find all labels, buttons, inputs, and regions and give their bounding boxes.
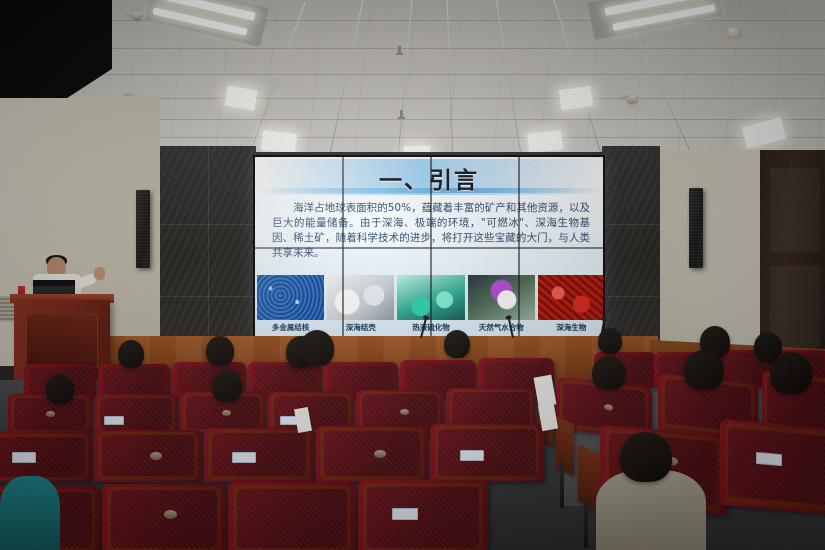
audience-shoulders	[596, 470, 706, 550]
slide-title: 一、引言	[255, 161, 603, 195]
panel-seam	[602, 296, 660, 297]
audience-head	[206, 336, 234, 366]
recessed-ceiling-light	[404, 146, 430, 152]
seat[interactable]	[430, 424, 544, 482]
dome-camera-icon	[726, 27, 742, 39]
sprinkler-icon	[398, 46, 401, 54]
thumbnail-caption: 天然气水合物	[468, 321, 535, 334]
ceiling-seam	[0, 74, 825, 75]
audience-head	[118, 340, 144, 368]
seat-number-label	[460, 450, 484, 461]
seat-emblem	[164, 510, 177, 519]
seat-support-post	[560, 462, 564, 508]
seat[interactable]	[102, 484, 226, 550]
thumbnail-image	[327, 275, 394, 320]
seat-armrest	[556, 416, 574, 476]
speaker-grille	[689, 188, 703, 268]
audience-head	[770, 352, 812, 394]
seat-cushion	[212, 433, 307, 476]
seat-cushion	[102, 435, 195, 477]
thumbnail-caption: 深海生物	[538, 321, 603, 334]
seat-number-label	[104, 416, 124, 425]
thumbnail-image	[538, 275, 603, 320]
seat[interactable]	[316, 426, 428, 482]
seat-cushion	[324, 431, 420, 476]
wall-speaker-left	[136, 190, 150, 268]
seat-number-label	[12, 452, 36, 463]
seat-number-label	[392, 508, 418, 520]
lecture-hall-photo: 一、引言 海洋占地球表面积的50%，蕴藏着丰富的矿产和其他资源，以及巨大的能量储…	[0, 0, 825, 550]
spotlight-icon	[132, 12, 142, 19]
seat-emblem	[150, 452, 162, 460]
ceiling-seam	[0, 20, 825, 21]
podium-front-panel	[26, 314, 98, 368]
seat-cushion	[728, 427, 825, 505]
seat[interactable]	[94, 430, 202, 482]
spotlight-icon	[627, 96, 637, 103]
seat-cushion	[111, 490, 218, 548]
seat-emblem	[374, 450, 386, 458]
sprinkler-icon	[400, 110, 403, 118]
audience-head	[592, 356, 626, 390]
videowall-bezel-seam	[255, 247, 603, 249]
thumbnail-caption: 深海结壳	[327, 321, 394, 334]
seat-cushion	[103, 367, 165, 394]
audience-head	[684, 350, 724, 390]
seat-support-post	[584, 498, 588, 548]
recessed-ceiling-light	[261, 130, 297, 152]
presenter-hand	[94, 267, 105, 280]
audience-shoulders	[0, 476, 60, 550]
audience-head	[598, 328, 622, 354]
thumbnail-image	[468, 275, 535, 320]
seat-cushion	[237, 489, 347, 548]
audience-head	[46, 374, 74, 404]
seat[interactable]	[98, 364, 170, 398]
seat[interactable]	[0, 432, 92, 482]
led-video-wall[interactable]: 一、引言 海洋占地球表面积的50%，蕴藏着丰富的矿产和其他资源，以及巨大的能量储…	[253, 155, 605, 338]
presentation-slide: 一、引言 海洋占地球表面积的50%，蕴藏着丰富的矿产和其他资源，以及巨大的能量储…	[255, 157, 603, 336]
seat[interactable]	[94, 394, 178, 434]
door-panel	[770, 168, 820, 252]
seat[interactable]	[720, 419, 825, 515]
seat[interactable]	[204, 428, 314, 482]
audience-head	[620, 432, 672, 482]
seat[interactable]	[228, 482, 356, 550]
seat-emblem	[46, 411, 55, 417]
panel-seam	[602, 224, 660, 225]
ceiling-seam	[0, 48, 825, 49]
seat-number-label	[232, 452, 256, 463]
seat-cushion	[253, 365, 317, 394]
audience-head	[300, 330, 334, 366]
seat-cushion	[367, 487, 479, 548]
seat-emblem	[400, 409, 409, 415]
seat-cushion	[438, 429, 536, 475]
panel-seam	[208, 146, 209, 361]
seat-emblem	[222, 410, 231, 416]
seat-number-label	[756, 452, 782, 466]
audience-head	[212, 370, 242, 402]
acoustic-panel-left	[160, 146, 256, 361]
audience-head	[444, 330, 470, 358]
speaker-grille	[136, 190, 150, 268]
wall-speaker-right	[689, 188, 703, 268]
thumbnail-image	[257, 275, 324, 320]
seat[interactable]	[358, 480, 488, 550]
recessed-ceiling-light	[527, 130, 563, 152]
